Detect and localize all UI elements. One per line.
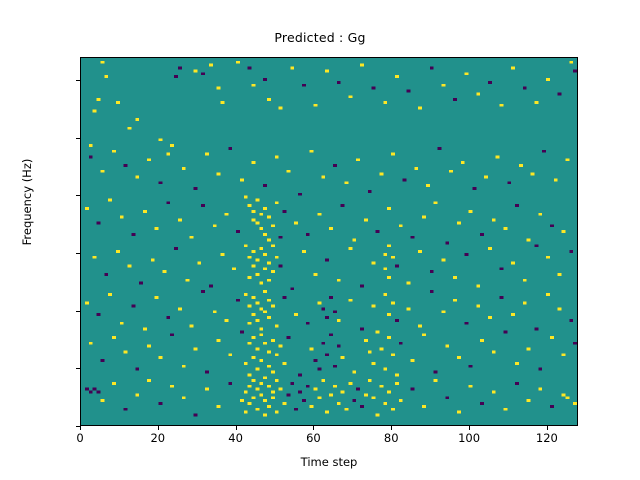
x-tick-label: 20 bbox=[128, 431, 188, 445]
x-tick-mark bbox=[80, 426, 81, 430]
y-tick-mark bbox=[76, 368, 80, 369]
y-tick-mark bbox=[76, 138, 80, 139]
x-tick-mark bbox=[236, 426, 237, 430]
x-tick-label: 60 bbox=[283, 431, 343, 445]
x-tick-label: 80 bbox=[361, 431, 421, 445]
x-tick-mark bbox=[547, 426, 548, 430]
heatmap-plot-area bbox=[80, 57, 578, 426]
y-tick-mark bbox=[76, 195, 80, 196]
y-tick-mark bbox=[76, 311, 80, 312]
x-tick-label: 40 bbox=[206, 431, 266, 445]
x-tick-mark bbox=[469, 426, 470, 430]
x-tick-label: 120 bbox=[517, 431, 577, 445]
x-tick-label: 100 bbox=[439, 431, 499, 445]
x-tick-mark bbox=[158, 426, 159, 430]
chart-title: Predicted : Gg bbox=[0, 30, 640, 45]
y-tick-mark bbox=[76, 253, 80, 254]
x-tick-mark bbox=[313, 426, 314, 430]
y-tick-mark bbox=[76, 80, 80, 81]
x-axis-label: Time step bbox=[80, 455, 578, 469]
matplotlib-figure: Predicted : Gg Frequency (Hz) Time step … bbox=[0, 0, 640, 480]
y-axis-label: Frequency (Hz) bbox=[20, 112, 34, 292]
heatmap-image bbox=[81, 58, 577, 425]
x-tick-label: 0 bbox=[50, 431, 110, 445]
x-tick-mark bbox=[391, 426, 392, 430]
